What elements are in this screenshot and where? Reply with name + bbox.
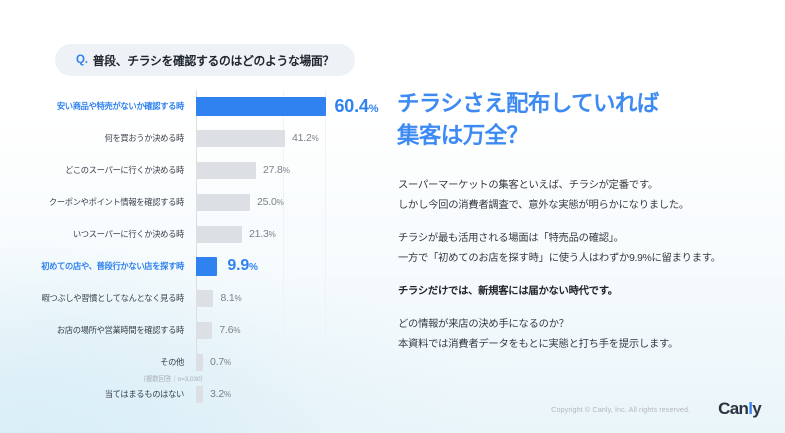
bar-category-label: 何を買おうか決める時 xyxy=(18,134,190,142)
chart-panel: Q. 普段、チラシを確認するのはどのような場面？ 安い商品や特売がないか確認する… xyxy=(0,0,390,433)
bar-category-label: 暇つぶしや習慣としてなんとなく見る時 xyxy=(18,294,190,302)
bar-row: 安い商品や特売がないか確認する時60.4% xyxy=(18,90,383,122)
bar-category-label: 初めての店や、普段行かない店を探す時 xyxy=(18,262,190,270)
bar-category-label: クーポンやポイント情報を確認する時 xyxy=(18,198,190,206)
bar-category-label: お店の場所や営業時間を確認する時 xyxy=(18,326,190,334)
logo-main: Can xyxy=(718,399,748,419)
question-text: 普段、チラシを確認するのはどのような場面？ xyxy=(93,52,334,69)
bar-category-label: どこのスーパーに行くか決める時 xyxy=(18,166,190,174)
bar-value-label: 8.1% xyxy=(220,293,241,304)
bar-row: お店の場所や営業時間を確認する時7.6% xyxy=(18,314,383,346)
slide-canvas: Q. 普段、チラシを確認するのはどのような場面？ 安い商品や特売がないか確認する… xyxy=(0,0,785,433)
body-copy: スーパーマーケットの集客といえば、チラシが定番です。 しかし今回の消費者調査で、… xyxy=(398,176,778,356)
paragraph-1: スーパーマーケットの集客といえば、チラシが定番です。 しかし今回の消費者調査で、… xyxy=(398,176,778,216)
bar-track: 9.9% xyxy=(196,258,383,275)
bar-value-label: 25.0% xyxy=(257,197,284,208)
bar-track: 7.6% xyxy=(196,322,383,339)
bar-row: いつスーパーに行くか決める時21.3% xyxy=(18,218,383,250)
bar-row: クーポンやポイント情報を確認する時25.0% xyxy=(18,186,383,218)
bar-category-label: 当てはまるものはない xyxy=(18,390,190,398)
question-marker: Q. xyxy=(76,54,88,66)
canly-logo: Canly xyxy=(718,399,761,419)
paragraph-2-line-2: 一方で「初めてのお店を探す時」に使う人はわずか9.9%に留まります。 xyxy=(398,249,778,269)
bar-value-label: 60.4% xyxy=(334,97,378,115)
bar-row: どこのスーパーに行くか決める時27.8% xyxy=(18,154,383,186)
bar-track: 25.0% xyxy=(196,194,383,211)
logo-tail: y xyxy=(752,399,761,419)
bar xyxy=(196,257,217,276)
bar xyxy=(196,97,326,116)
bar-row: 暇つぶしや習慣としてなんとなく見る時8.1% xyxy=(18,282,383,314)
bar xyxy=(196,290,213,307)
bar-track: 60.4% xyxy=(196,98,383,115)
bar-track: 41.2% xyxy=(196,130,383,147)
bar-row: 初めての店や、普段行かない店を探す時9.9% xyxy=(18,250,383,282)
slide-footer: Copyright © Canly, Inc. All rights reser… xyxy=(0,399,785,419)
headline: チラシさえ配布していれば 集客は万全？ xyxy=(397,88,659,152)
paragraph-4: どの情報が来店の決め手になるのか？ 本資料では消費者データをもとに実態と打ち手を… xyxy=(398,315,778,355)
paragraph-2: チラシが最も活用される場面は「特売品の確認」。 一方で「初めてのお店を探す時」に… xyxy=(398,229,778,269)
bar xyxy=(196,226,242,243)
bar-value-label: 7.6% xyxy=(219,325,240,336)
bar xyxy=(196,354,203,371)
bar-track: 0.7% xyxy=(196,354,383,371)
bar-track: 27.8% xyxy=(196,162,383,179)
bar-track: 8.1% xyxy=(196,290,383,307)
bar-value-label: 3.2% xyxy=(210,389,231,400)
chart-note: （複数回答｜n=3,030） xyxy=(18,373,328,383)
copyright-text: Copyright © Canly, Inc. All rights reser… xyxy=(551,405,690,414)
bar-track: 21.3% xyxy=(196,226,383,243)
bar-value-label: 0.7% xyxy=(210,357,231,368)
paragraph-1-line-2: しかし今回の消費者調査で、意外な実態が明らかになりました。 xyxy=(398,196,778,216)
bar xyxy=(196,130,285,147)
paragraph-2-line-1: チラシが最も活用される場面は「特売品の確認」。 xyxy=(398,229,778,249)
question-pill: Q. 普段、チラシを確認するのはどのような場面？ xyxy=(55,44,355,76)
bar-value-label: 21.3% xyxy=(249,229,276,240)
bar xyxy=(196,162,256,179)
paragraph-3-line-1: チラシだけでは、新規客には届かない時代です。 xyxy=(398,282,778,302)
bar-category-label: その他 xyxy=(18,358,190,366)
bar-row: 何を買おうか決める時41.2% xyxy=(18,122,383,154)
bar xyxy=(196,194,250,211)
paragraph-4-line-2: 本資料では消費者データをもとに実態と打ち手を提示します。 xyxy=(398,335,778,355)
paragraph-4-line-1: どの情報が来店の決め手になるのか？ xyxy=(398,315,778,335)
bar-chart: 安い商品や特売がないか確認する時60.4%何を買おうか決める時41.2%どこのス… xyxy=(18,90,383,390)
copy-panel: チラシさえ配布していれば 集客は万全？ スーパーマーケットの集客といえば、チラシ… xyxy=(392,0,785,433)
paragraph-1-line-1: スーパーマーケットの集客といえば、チラシが定番です。 xyxy=(398,176,778,196)
bar-category-label: 安い商品や特売がないか確認する時 xyxy=(18,102,190,110)
bar-value-label: 27.8% xyxy=(263,165,290,176)
chart-rows: 安い商品や特売がないか確認する時60.4%何を買おうか決める時41.2%どこのス… xyxy=(18,90,383,410)
bar-category-label: いつスーパーに行くか決める時 xyxy=(18,230,190,238)
bar xyxy=(196,322,212,339)
bar-value-label: 9.9% xyxy=(227,258,257,274)
bar-value-label: 41.2% xyxy=(292,133,319,144)
paragraph-3: チラシだけでは、新規客には届かない時代です。 xyxy=(398,282,778,302)
